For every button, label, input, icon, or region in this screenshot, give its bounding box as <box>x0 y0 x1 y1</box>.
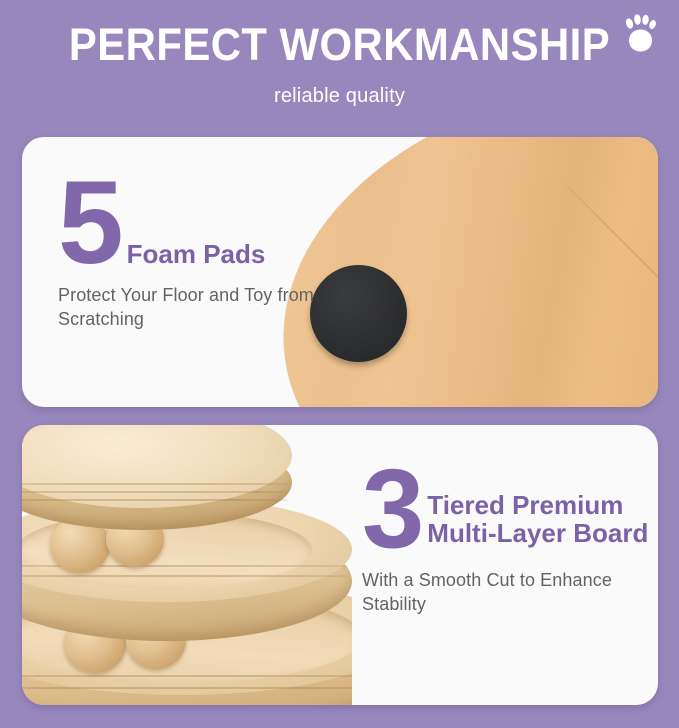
card-foam-pads-text: 5 Foam Pads Protect Your Floor and Toy f… <box>58 175 358 331</box>
tiered-tower-artwork <box>22 425 352 705</box>
paw-print-icon <box>620 12 660 54</box>
headline-row: 5 Foam Pads <box>58 175 358 272</box>
plywood-layer-line <box>22 483 288 485</box>
card-foam-pads: 5 Foam Pads Protect Your Floor and Toy f… <box>22 137 658 407</box>
page-subtitle: reliable quality <box>0 84 679 108</box>
card-number: 3 <box>362 463 421 555</box>
headline-row: 3 Tiered Premium Multi-Layer Board <box>362 463 658 555</box>
card-description: With a Smooth Cut to Enhance Stability <box>362 569 658 617</box>
wood-grain-line <box>565 184 658 369</box>
card-label: Tiered Premium Multi-Layer Board <box>421 491 658 555</box>
plywood-layer-line <box>22 499 288 501</box>
plywood-layer-line <box>22 491 288 493</box>
plywood-layer-line <box>22 575 348 577</box>
card-label: Foam Pads <box>121 240 266 272</box>
card-tiered-board-text: 3 Tiered Premium Multi-Layer Board With … <box>362 463 658 616</box>
plywood-layer-line <box>22 687 352 689</box>
card-tiered-board: 3 Tiered Premium Multi-Layer Board With … <box>22 425 658 705</box>
page-title: PERFECT WORKMANSHIP <box>24 22 655 67</box>
card-number: 5 <box>58 175 121 272</box>
header-banner: PERFECT WORKMANSHIP reliable quality <box>0 0 679 130</box>
wood-grain-line <box>605 137 658 218</box>
card-description: Protect Your Floor and Toy from Scratchi… <box>58 284 358 332</box>
plywood-layer-line <box>22 675 352 677</box>
